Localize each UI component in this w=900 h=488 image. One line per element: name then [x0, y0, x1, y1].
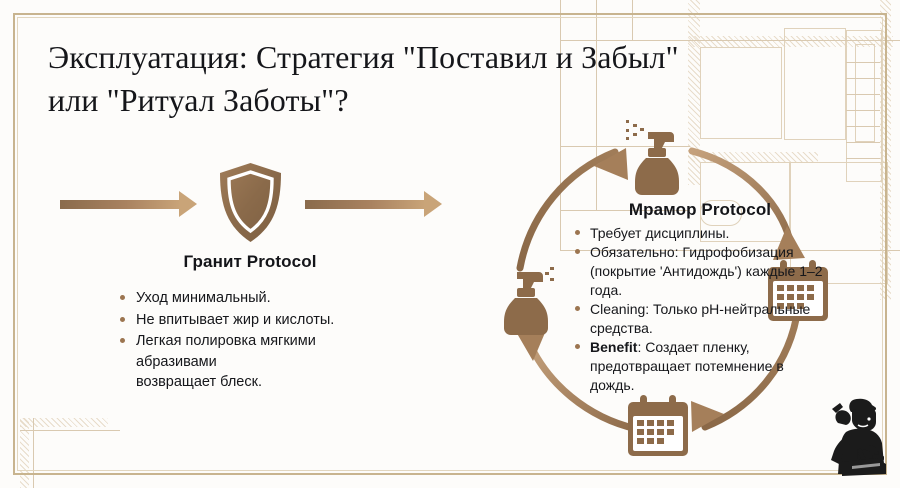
granite-protocol-block: Гранит Protocol Уход минимальный. Не впи…	[40, 160, 460, 394]
list-item: Обязательно: Гидрофобизация (покрытие 'А…	[575, 243, 825, 300]
marble-bullet-list: Требует дисциплины. Обязательно: Гидрофо…	[575, 224, 825, 395]
shield-icon	[218, 162, 283, 244]
granite-heading: Гранит Protocol	[40, 252, 460, 272]
slide-canvas: Эксплуатация: Стратегия "Поставил и Забы…	[0, 0, 900, 488]
granite-bullet-0: Уход минимальный.	[136, 290, 271, 306]
list-item: Benefit: Создает пленку, предотвращает п…	[575, 338, 825, 395]
marble-bullet-2: Cleaning: Только pH-нейтральные средства…	[590, 301, 810, 336]
list-item: Не впитывает жир и кислоты.	[120, 310, 460, 331]
marble-bullet-1: Обязательно: Гидрофобизация (покрытие 'А…	[590, 244, 823, 298]
granite-icon-row	[40, 160, 460, 250]
list-item: Уход минимальный.	[120, 288, 460, 309]
marble-bullet-0: Требует дисциплины.	[590, 225, 729, 241]
marble-bullet-3-label: Benefit	[590, 339, 637, 355]
arrow-right-icon-right	[305, 200, 425, 209]
list-item: Легкая полировка мягкими абразивами возв…	[120, 331, 460, 393]
list-item: Требует дисциплины.	[575, 224, 825, 243]
page-title: Эксплуатация: Стратегия "Поставил и Забы…	[48, 36, 858, 121]
granite-bullet-2: Легкая полировка мягкими абразивами возв…	[136, 333, 316, 390]
granite-bullet-list: Уход минимальный. Не впитывает жир и кис…	[120, 288, 460, 393]
marble-protocol-block: Мрамор Protocol Требует дисциплины. Обяз…	[575, 200, 825, 395]
arrow-right-icon-left	[60, 200, 180, 209]
granite-bullet-1: Не впитывает жир и кислоты.	[136, 312, 334, 328]
stonemason-icon	[812, 392, 890, 476]
list-item: Cleaning: Только pH-нейтральные средства…	[575, 300, 825, 338]
marble-heading: Мрамор Protocol	[575, 200, 825, 220]
